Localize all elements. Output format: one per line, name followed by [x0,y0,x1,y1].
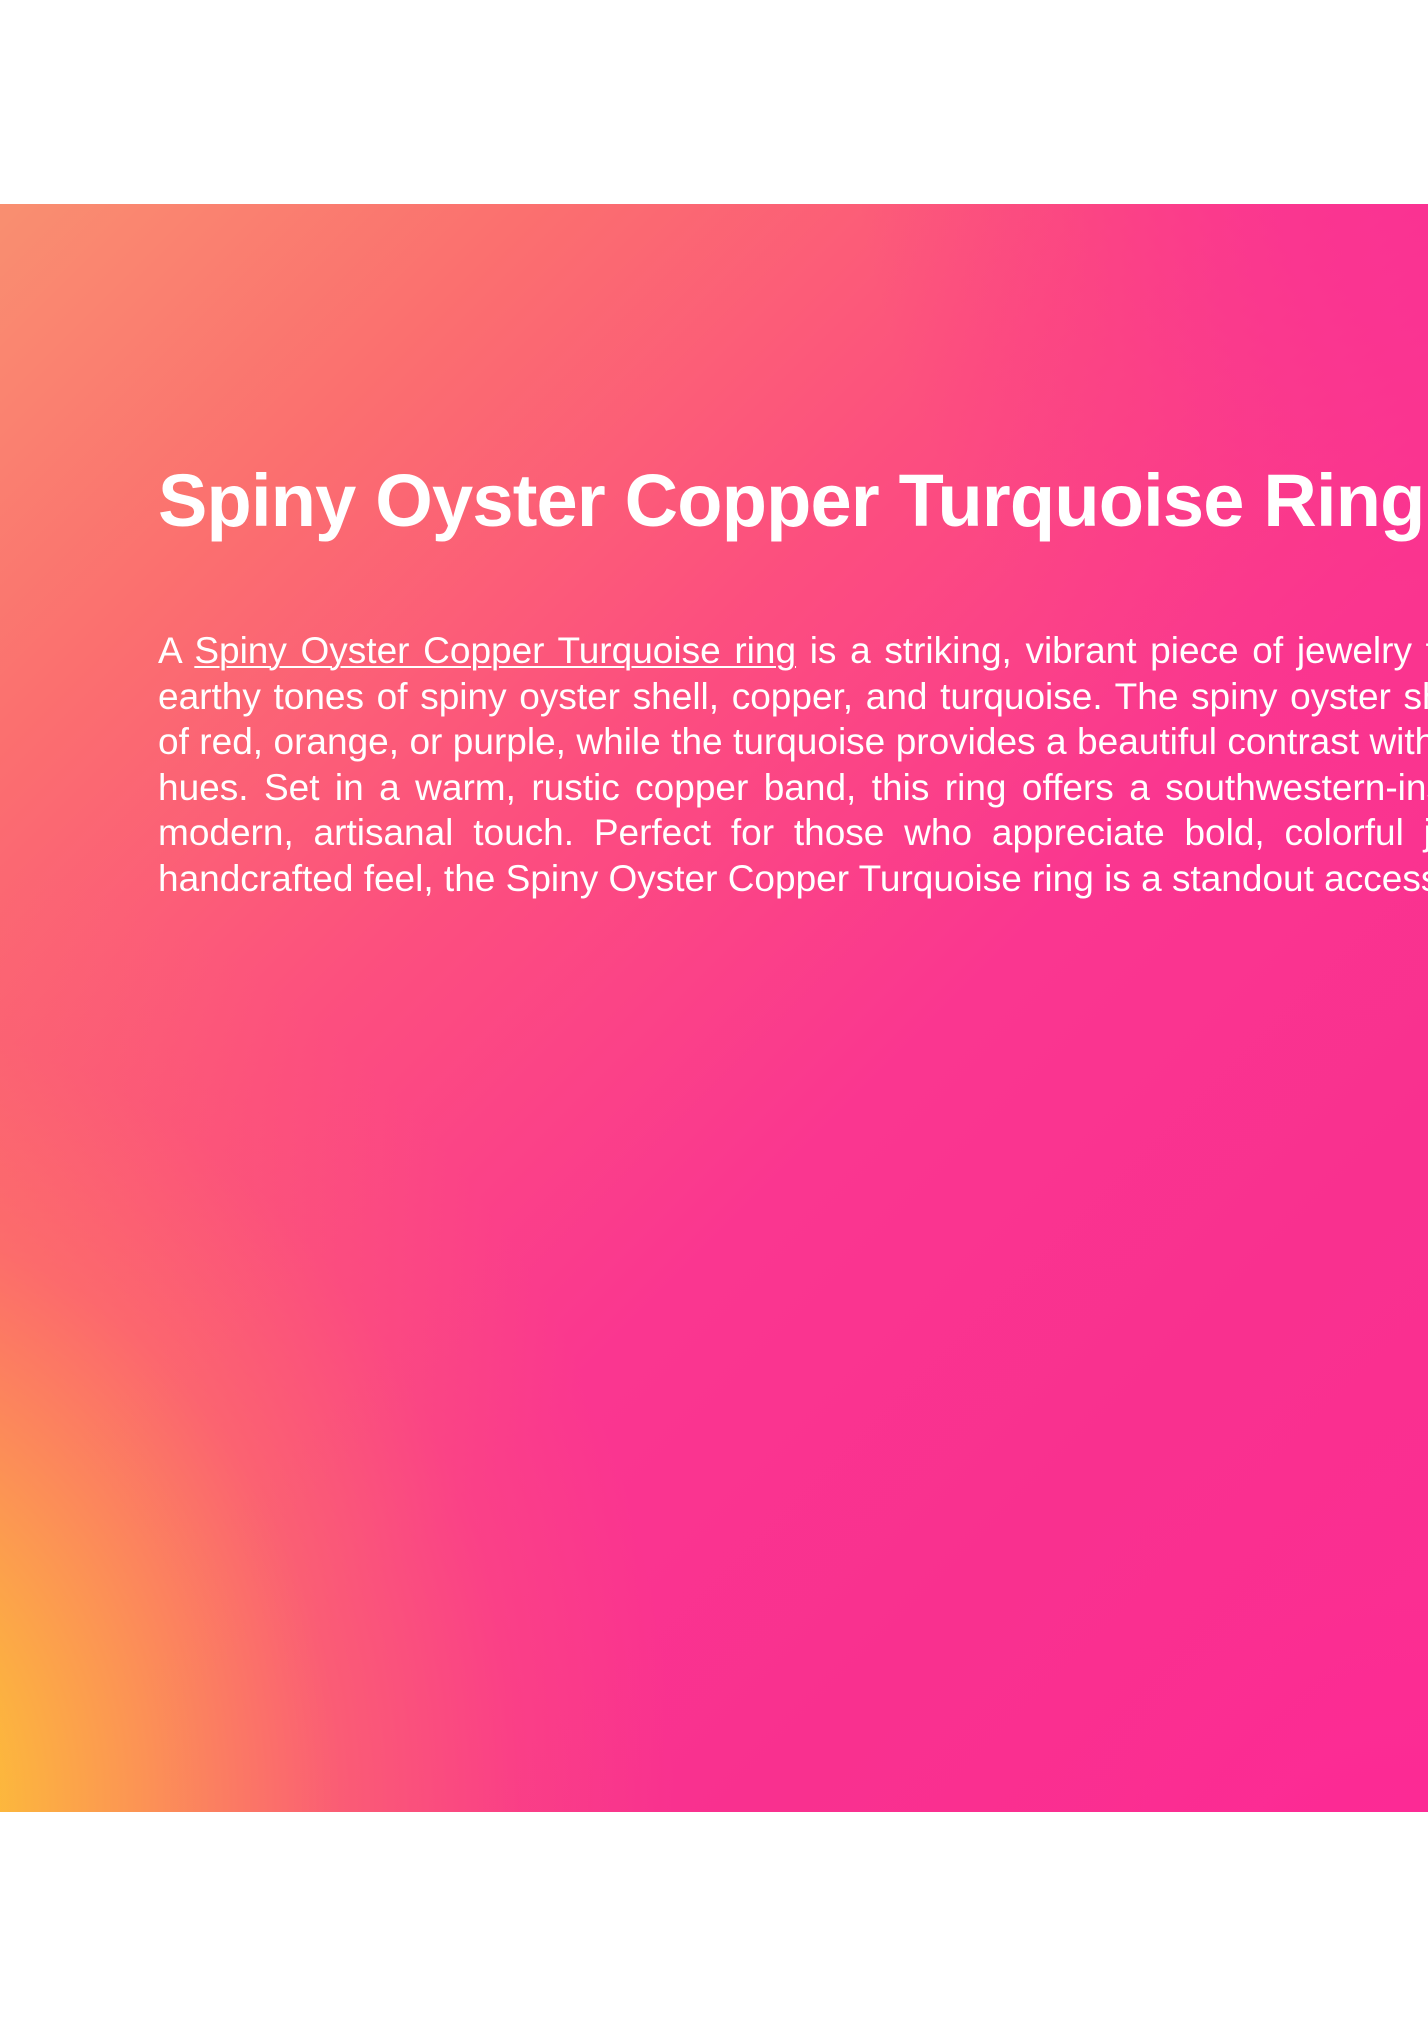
page-root: Spiny Oyster Copper Turquoise Ring A Spi… [0,0,1428,2018]
paragraph-lead-text: A [158,630,194,671]
page-bottom-spacer [0,1812,1428,2018]
page-top-spacer [0,0,1428,204]
gradient-hero-section: Spiny Oyster Copper Turquoise Ring A Spi… [0,204,1428,1812]
gradient-wash-magenta-bottom [457,912,1428,1812]
product-description-paragraph: A Spiny Oyster Copper Turquoise ring is … [158,628,1428,902]
product-link[interactable]: Spiny Oyster Copper Turquoise ring [194,630,796,671]
page-title: Spiny Oyster Copper Turquoise Ring [158,462,1428,540]
